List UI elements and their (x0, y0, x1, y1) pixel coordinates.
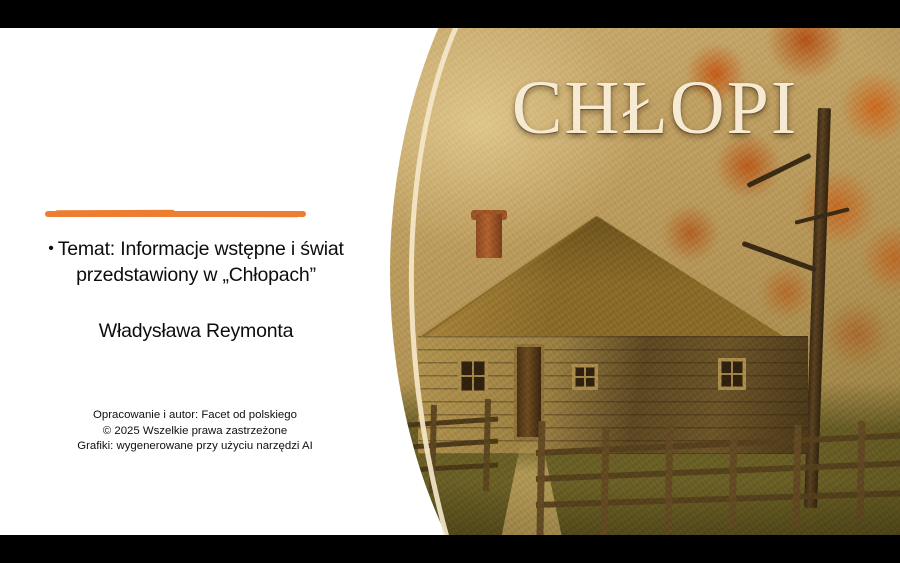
slide-subtitle: Władysława Reymonta (36, 318, 356, 344)
slide-canvas: CHŁOPI •Temat: Informacje wstępne i świa… (0, 28, 900, 535)
slide-bullet-text: Temat: Informacje wstępne i świat przeds… (58, 238, 344, 286)
cottage-window (572, 364, 598, 390)
slide-bullet: •Temat: Informacje wstępne i świat przed… (36, 236, 356, 288)
presentation-viewer: CHŁOPI •Temat: Informacje wstępne i świa… (0, 0, 900, 563)
cottage-window (458, 358, 488, 394)
credit-line-author: Opracowanie i autor: Facet od polskiego (30, 408, 360, 424)
accent-underline (45, 211, 306, 217)
cottage-window (718, 358, 746, 390)
slide-title: CHŁOPI (455, 66, 855, 150)
credit-line-copyright: © 2025 Wszelkie prawa zastrzeżone (30, 424, 360, 440)
cottage-door (514, 344, 544, 440)
slide-credits: Opracowanie i autor: Facet od polskiego … (30, 408, 360, 455)
letterbox-bottom-bar (0, 535, 900, 563)
bullet-marker: • (48, 240, 53, 257)
thatched-roof (418, 216, 786, 338)
slide-text-column: •Temat: Informacje wstępne i świat przed… (0, 28, 395, 535)
credit-line-graphics: Grafiki: wygenerowane przy użyciu narzęd… (30, 439, 360, 455)
letterbox-top-bar (0, 0, 900, 28)
cottage-log-wall (418, 336, 808, 454)
